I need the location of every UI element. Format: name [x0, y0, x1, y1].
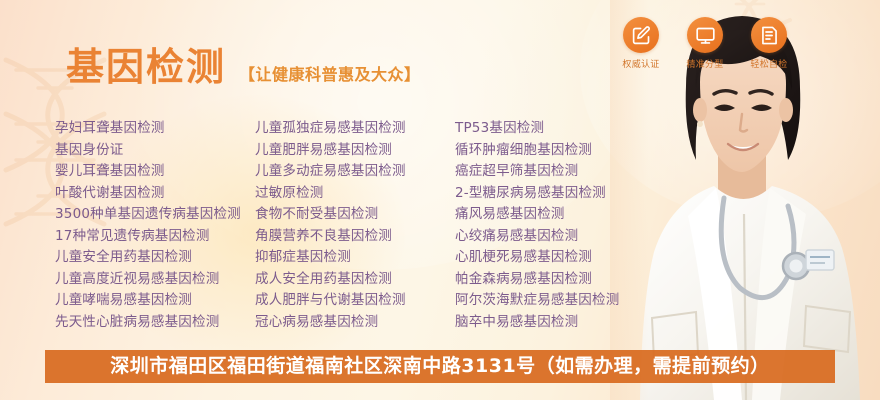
list-item[interactable]: 17种常见遗传病基因检测 — [55, 226, 255, 248]
badge-precise-typing[interactable]: 精准分型 — [684, 17, 726, 69]
badge-label: 权威认证 — [622, 60, 659, 69]
address-bar: 深圳市福田区福田街道福南社区深南中路3131号（如需办理，需提前预约） — [45, 350, 835, 383]
test-list-column-1: 孕妇耳聋基因检测 基因身份证 婴儿耳聋基因检测 叶酸代谢基因检测 3500种单基… — [55, 118, 255, 333]
page-title: 基因检测 — [66, 48, 226, 86]
list-item[interactable]: 儿童孤独症易感基因检测 — [255, 118, 455, 140]
feature-badges: 权威认证 精准分型 轻松自检 — [620, 17, 790, 69]
page-subtitle: 【让健康科普惠及大众】 — [239, 67, 421, 83]
list-item[interactable]: 食物不耐受基因检测 — [255, 204, 455, 226]
list-item[interactable]: 癌症超早筛基因检测 — [455, 161, 655, 183]
list-item[interactable]: 阿尔茨海默症易感基因检测 — [455, 290, 655, 312]
list-item[interactable]: 儿童多动症易感基因检测 — [255, 161, 455, 183]
list-item[interactable]: 心肌梗死易感基因检测 — [455, 247, 655, 269]
address-text: 深圳市福田区福田街道福南社区深南中路3131号（如需办理，需提前预约） — [110, 357, 769, 376]
list-item[interactable]: 儿童高度近视易感基因检测 — [55, 269, 255, 291]
monitor-icon — [687, 17, 723, 53]
gene-testing-banner: 权威认证 精准分型 轻松自检 — [0, 0, 880, 400]
list-item[interactable]: 儿童肥胖易感基因检测 — [255, 140, 455, 162]
test-list-columns: 孕妇耳聋基因检测 基因身份证 婴儿耳聋基因检测 叶酸代谢基因检测 3500种单基… — [55, 118, 655, 333]
list-item[interactable]: 孕妇耳聋基因检测 — [55, 118, 255, 140]
test-list-column-2: 儿童孤独症易感基因检测 儿童肥胖易感基因检测 儿童多动症易感基因检测 过敏原检测… — [255, 118, 455, 333]
list-item[interactable]: TP53基因检测 — [455, 118, 655, 140]
list-item[interactable]: 3500种单基因遗传病基因检测 — [55, 204, 255, 226]
badge-easy-self-check[interactable]: 轻松自检 — [748, 17, 790, 69]
list-item[interactable]: 先天性心脏病易感基因检测 — [55, 312, 255, 334]
list-item[interactable]: 儿童安全用药基因检测 — [55, 247, 255, 269]
list-item[interactable]: 循环肿瘤细胞基因检测 — [455, 140, 655, 162]
list-item[interactable]: 痛风易感基因检测 — [455, 204, 655, 226]
badge-label: 精准分型 — [686, 60, 723, 69]
list-item[interactable]: 过敏原检测 — [255, 183, 455, 205]
list-item[interactable]: 角膜营养不良基因检测 — [255, 226, 455, 248]
list-item[interactable]: 基因身份证 — [55, 140, 255, 162]
badge-label: 轻松自检 — [750, 60, 787, 69]
list-item[interactable]: 儿童哮喘易感基因检测 — [55, 290, 255, 312]
document-pen-icon — [751, 17, 787, 53]
badge-authority-certification[interactable]: 权威认证 — [620, 17, 662, 69]
list-item[interactable]: 抑郁症基因检测 — [255, 247, 455, 269]
edit-square-icon — [623, 17, 659, 53]
list-item[interactable]: 婴儿耳聋基因检测 — [55, 161, 255, 183]
list-item[interactable]: 帕金森病易感基因检测 — [455, 269, 655, 291]
list-item[interactable]: 脑卒中易感基因检测 — [455, 312, 655, 334]
list-item[interactable]: 成人安全用药基因检测 — [255, 269, 455, 291]
test-list-column-3: TP53基因检测 循环肿瘤细胞基因检测 癌症超早筛基因检测 2-型糖尿病易感基因… — [455, 118, 655, 333]
list-item[interactable]: 心绞痛易感基因检测 — [455, 226, 655, 248]
list-item[interactable]: 成人肥胖与代谢基因检测 — [255, 290, 455, 312]
list-item[interactable]: 冠心病易感基因检测 — [255, 312, 455, 334]
list-item[interactable]: 2-型糖尿病易感基因检测 — [455, 183, 655, 205]
list-item[interactable]: 叶酸代谢基因检测 — [55, 183, 255, 205]
headline-group: 基因检测 【让健康科普惠及大众】 — [66, 48, 421, 86]
